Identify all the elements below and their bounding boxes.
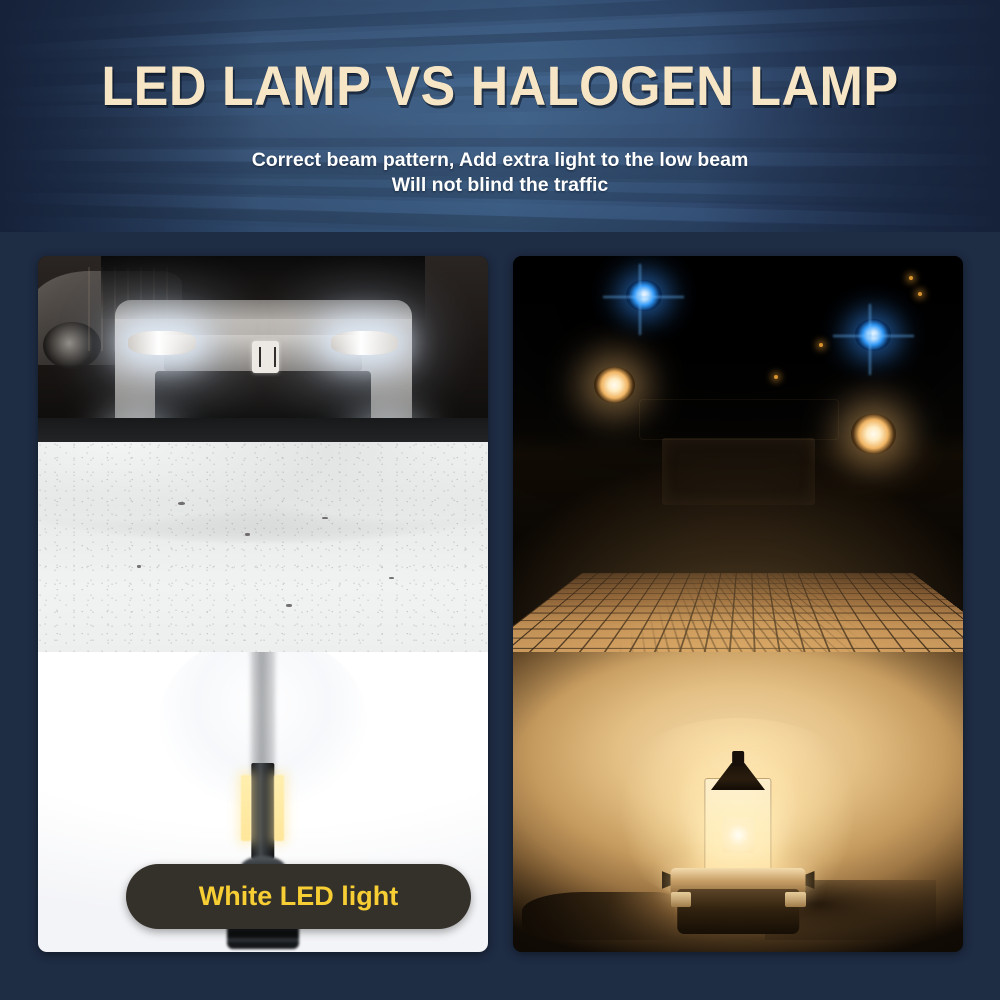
honda-emblem-icon <box>252 341 279 373</box>
badge-white-led-light: White LED light <box>126 864 471 929</box>
comparison-panel-halogen: yellow halogen lamp <box>513 256 963 952</box>
header-banner: LED LAMP VS HALOGEN LAMP Correct beam pa… <box>0 0 1000 232</box>
halogen-headlight-right <box>851 414 896 454</box>
halogen-headlight-left <box>594 367 635 403</box>
badge-white-led-label: White LED light <box>199 881 398 912</box>
led-night-photo <box>38 256 488 652</box>
subtitle-line-2: Will not blind the traffic <box>0 173 1000 198</box>
led-headlight-left <box>128 331 196 355</box>
page-subtitle: Correct beam pattern, Add extra light to… <box>0 148 1000 198</box>
poster-canvas: LED LAMP VS HALOGEN LAMP Correct beam pa… <box>0 0 1000 1000</box>
halogen-night-photo <box>513 256 963 652</box>
comparison-panel-led: White LED light <box>38 256 488 952</box>
halogen-bulb-photo <box>513 652 963 952</box>
subtitle-line-1: Correct beam pattern, Add extra light to… <box>0 148 1000 173</box>
page-title: LED LAMP VS HALOGEN LAMP <box>35 58 965 114</box>
led-headlight-right <box>331 331 399 355</box>
